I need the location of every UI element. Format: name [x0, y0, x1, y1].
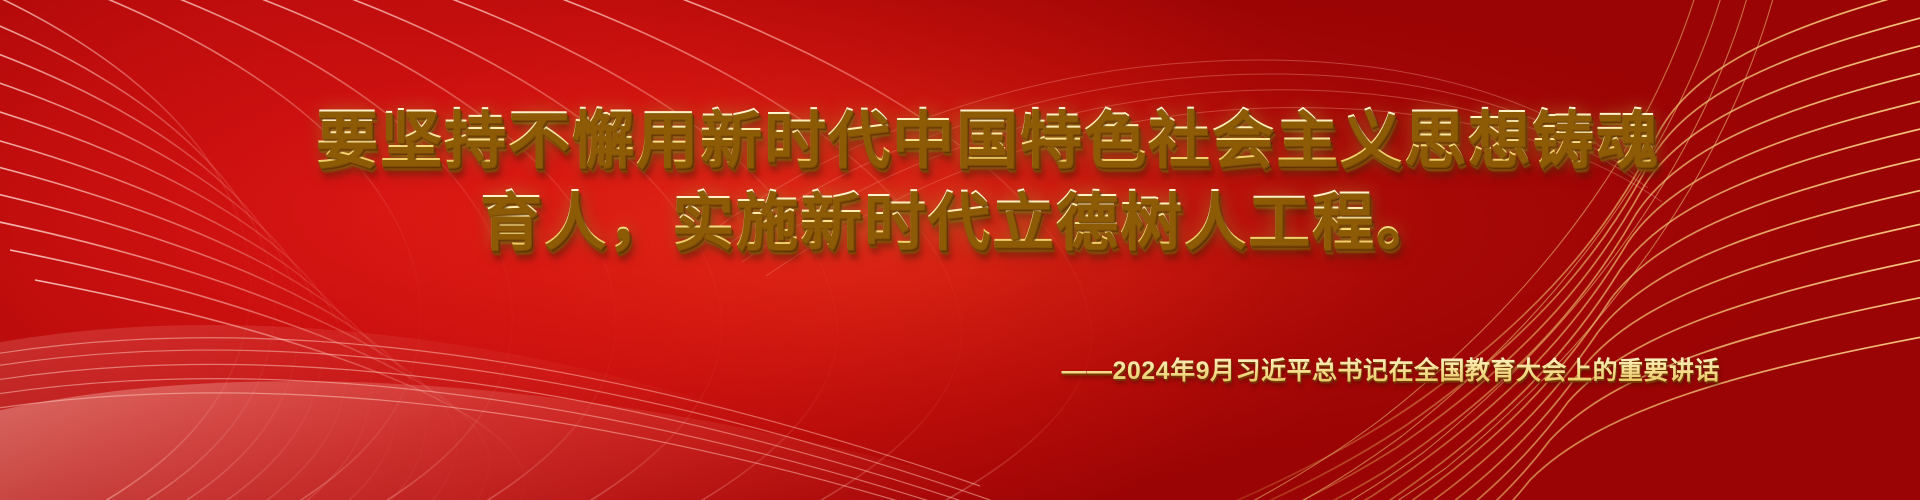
- propaganda-banner: 要坚持不懈用新时代中国特色社会主义思想铸魂 育人，实施新时代立德树人工程。 ——…: [0, 0, 1920, 500]
- speech-attribution: ——2024年9月习近平总书记在全国教育大会上的重要讲话: [0, 351, 1920, 387]
- banner-text-layer: 要坚持不懈用新时代中国特色社会主义思想铸魂 育人，实施新时代立德树人工程。 ——…: [0, 0, 1920, 500]
- headline-line-2: 育人，实施新时代立德树人工程。: [0, 186, 1920, 258]
- headline-line-1: 要坚持不懈用新时代中国特色社会主义思想铸魂: [0, 104, 1920, 176]
